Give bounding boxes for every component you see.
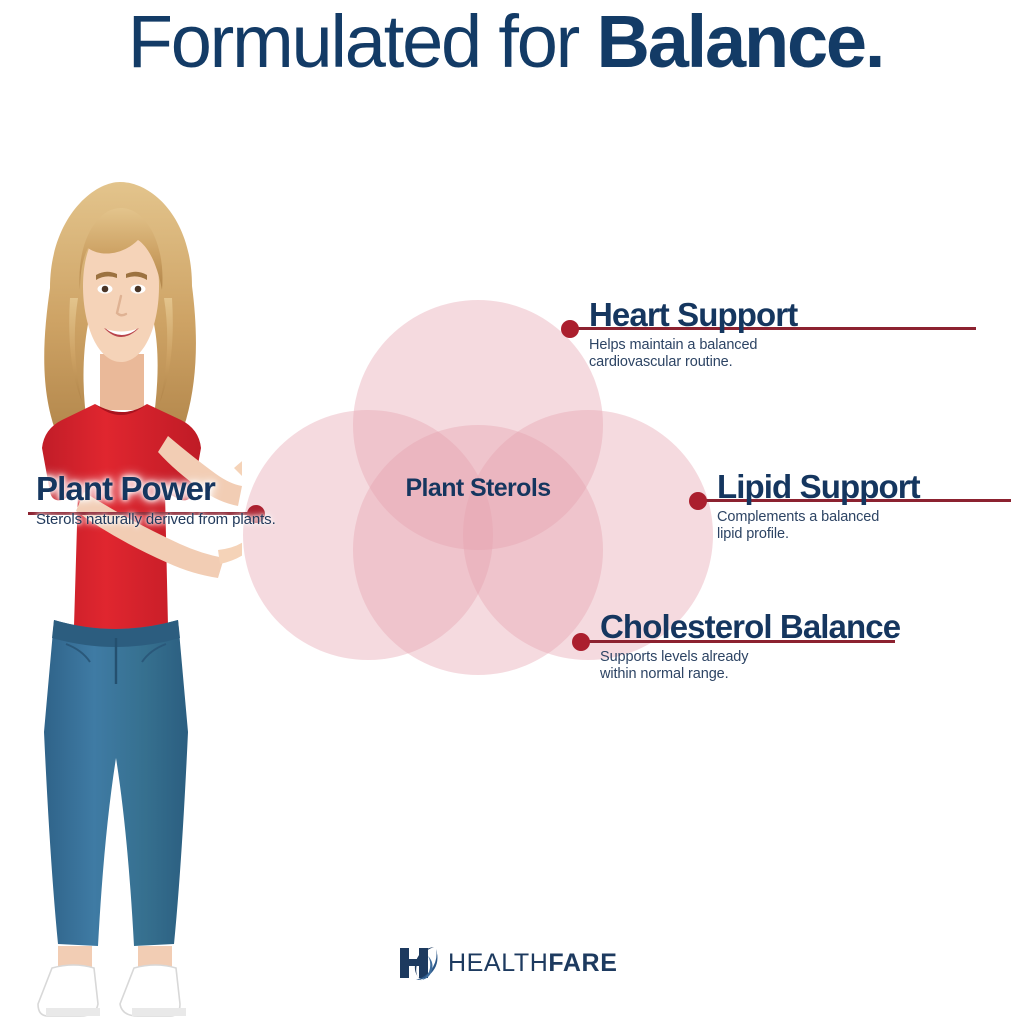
lipid-support-title: Lipid Support xyxy=(717,470,920,504)
callout-plant-power[interactable]: Plant Power Sterols naturally derived fr… xyxy=(36,472,276,528)
venn-center-label: Plant Sterols xyxy=(243,474,713,503)
poster-canvas: Formulated for Balance. Plant Sterols xyxy=(0,0,1011,1024)
hand-lower xyxy=(218,540,242,564)
callout-cholesterol-balance[interactable]: Cholesterol Balance Supports levels alre… xyxy=(600,610,900,684)
plant-power-title: Plant Power xyxy=(36,472,276,506)
brand-logo: HEALTHFARE xyxy=(398,944,617,982)
cholesterol-balance-dot xyxy=(572,633,590,651)
brand-name: HEALTHFARE xyxy=(448,949,617,978)
lipid-support-dot xyxy=(689,492,707,510)
brand-name-bold: FARE xyxy=(548,949,617,977)
heart-support-title: Heart Support xyxy=(589,298,797,332)
h-leaf-icon xyxy=(398,944,444,982)
neck xyxy=(100,354,144,410)
plant-power-subtitle: Sterols naturally derived from plants. xyxy=(36,511,276,529)
cholesterol-balance-title: Cholesterol Balance xyxy=(600,610,900,644)
heart-support-dot xyxy=(561,320,579,338)
brand-name-light: HEALTH xyxy=(448,949,548,977)
cholesterol-balance-subtitle: Supports levels already within normal ra… xyxy=(600,649,900,684)
callout-heart-support[interactable]: Heart Support Helps maintain a balanced … xyxy=(589,298,797,372)
headline-light: Formulated for xyxy=(128,0,597,83)
venn-circle-bottom xyxy=(353,425,603,675)
callout-lipid-support[interactable]: Lipid Support Complements a balanced lip… xyxy=(717,470,920,544)
model-photo xyxy=(0,168,242,1024)
page-title: Formulated for Balance. xyxy=(0,2,1011,82)
heart-support-subtitle: Helps maintain a balanced cardiovascular… xyxy=(589,337,797,372)
lipid-support-subtitle: Complements a balanced lipid profile. xyxy=(717,509,920,544)
headline-bold: Balance. xyxy=(596,0,883,83)
